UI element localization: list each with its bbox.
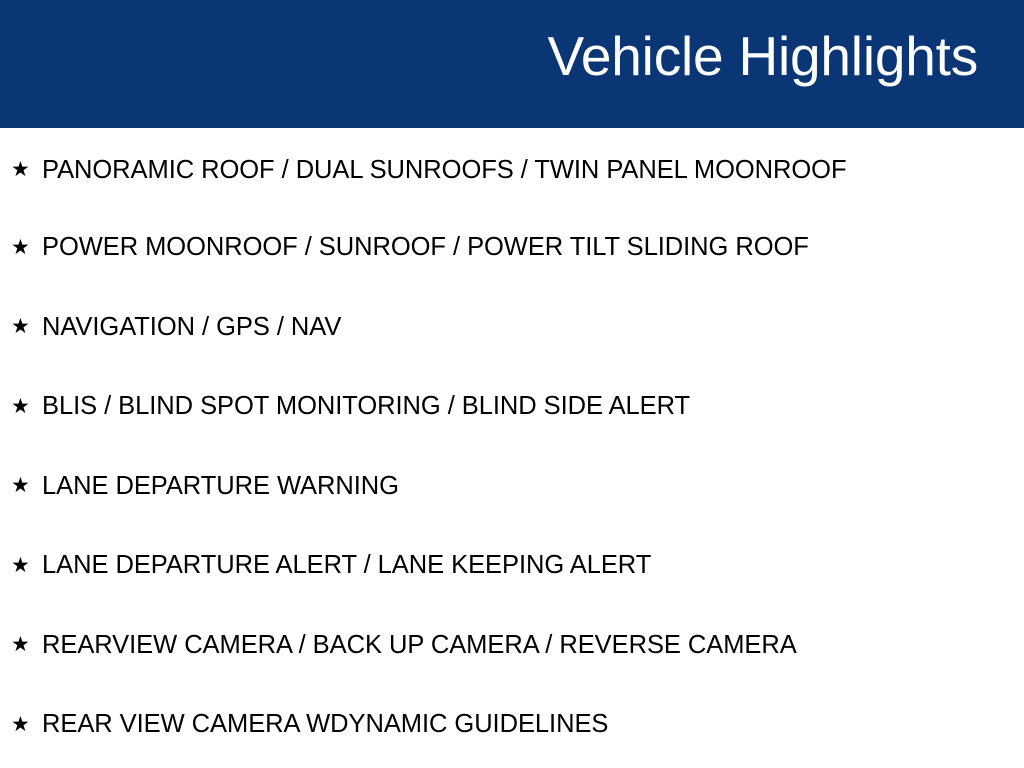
vehicle-highlights-slide: Vehicle Highlights ★ PANORAMIC ROOF / DU…	[0, 0, 1024, 768]
slide-header-band: Vehicle Highlights	[0, 0, 1024, 128]
list-item: ★ PANORAMIC ROOF / DUAL SUNROOFS / TWIN …	[0, 128, 1024, 208]
list-item: ★ NAVIGATION / GPS / NAV	[0, 287, 1024, 367]
star-bullet-icon: ★	[11, 237, 42, 258]
highlight-text: POWER MOONROOF / SUNROOF / POWER TILT SL…	[42, 233, 809, 261]
list-item: ★ REAR VIEW CAMERA WDYNAMIC GUIDELINES	[0, 685, 1024, 765]
highlight-text: REAR VIEW CAMERA WDYNAMIC GUIDELINES	[42, 710, 608, 738]
star-bullet-icon: ★	[11, 555, 42, 576]
list-item: ★ LANE DEPARTURE WARNING	[0, 446, 1024, 526]
star-bullet-icon: ★	[11, 316, 42, 337]
vehicle-highlights-list: ★ PANORAMIC ROOF / DUAL SUNROOFS / TWIN …	[0, 128, 1024, 768]
highlight-text: LANE DEPARTURE ALERT / LANE KEEPING ALER…	[42, 551, 651, 579]
list-item: ★ LANE DEPARTURE ALERT / LANE KEEPING AL…	[0, 526, 1024, 606]
list-item: ★ POWER MOONROOF / SUNROOF / POWER TILT …	[0, 208, 1024, 288]
star-bullet-icon: ★	[11, 159, 42, 180]
star-bullet-icon: ★	[11, 634, 42, 655]
list-item: ★ REARVIEW CAMERA / BACK UP CAMERA / REV…	[0, 605, 1024, 685]
star-bullet-icon: ★	[11, 714, 42, 735]
highlight-text: PANORAMIC ROOF / DUAL SUNROOFS / TWIN PA…	[42, 156, 847, 184]
highlight-text: NAVIGATION / GPS / NAV	[42, 313, 341, 341]
highlight-text: REARVIEW CAMERA / BACK UP CAMERA / REVER…	[42, 631, 797, 659]
highlight-text: BLIS / BLIND SPOT MONITORING / BLIND SID…	[42, 392, 690, 420]
list-item: ★ BLIS / BLIND SPOT MONITORING / BLIND S…	[0, 367, 1024, 447]
highlight-text: LANE DEPARTURE WARNING	[42, 472, 399, 500]
star-bullet-icon: ★	[11, 475, 42, 496]
star-bullet-icon: ★	[11, 396, 42, 417]
page-title: Vehicle Highlights	[547, 28, 978, 84]
